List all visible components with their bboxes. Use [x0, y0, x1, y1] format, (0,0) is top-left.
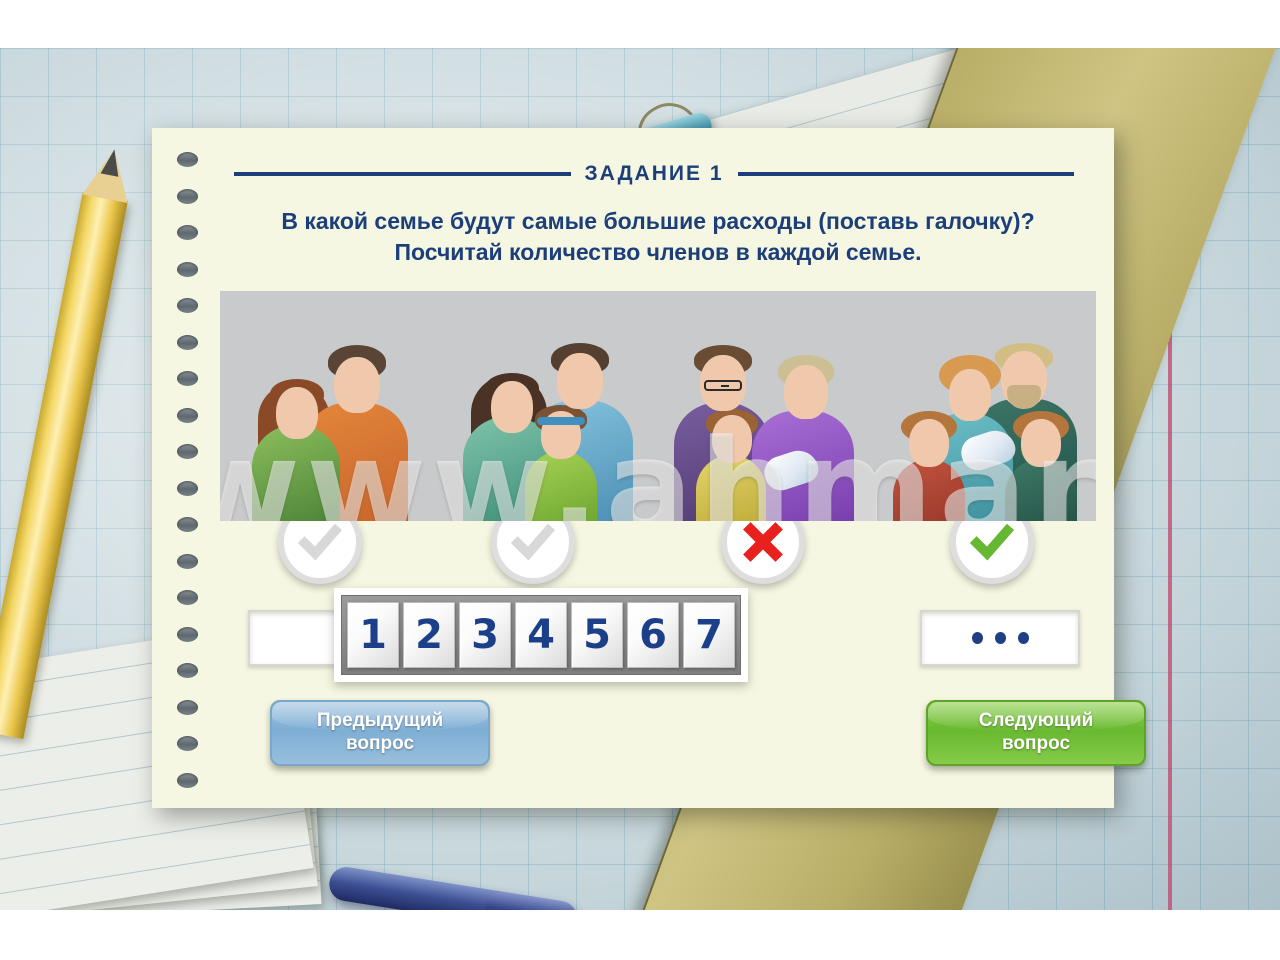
screen: ЗАДАНИЕ 1 В какой семье будут самые боль… — [0, 0, 1280, 960]
torso — [696, 455, 766, 521]
worksheet-content: ЗАДАНИЕ 1 В какой семье будут самые боль… — [208, 128, 1114, 808]
answer-field-right[interactable] — [920, 610, 1080, 666]
dot — [995, 632, 1006, 644]
dot — [972, 632, 983, 644]
number-key-2[interactable]: 2 — [403, 602, 455, 668]
punch-hole — [177, 481, 198, 496]
head — [949, 369, 991, 421]
families-row — [220, 291, 1096, 521]
punch-hole — [177, 700, 198, 715]
check-icon — [297, 519, 343, 565]
punch-hole — [177, 262, 198, 277]
family-1 — [230, 309, 430, 521]
punch-hole — [177, 444, 198, 459]
number-strip-frame: 1 2 3 4 5 6 7 — [341, 595, 741, 675]
glasses-icon — [704, 380, 742, 391]
cross-icon — [740, 519, 786, 565]
worksheet-card: ЗАДАНИЕ 1 В какой семье будут самые боль… — [152, 128, 1114, 808]
family-3 — [668, 309, 868, 521]
torso — [252, 425, 340, 521]
heading-rule-left — [234, 172, 571, 176]
head — [276, 387, 318, 439]
families-illustration: www.ahmarket.ru — [220, 291, 1096, 521]
punch-hole — [177, 517, 198, 532]
family-2 — [449, 309, 649, 521]
punch-hole — [177, 627, 198, 642]
number-key-1[interactable]: 1 — [347, 602, 399, 668]
number-key-5[interactable]: 5 — [571, 602, 623, 668]
punch-hole — [177, 335, 198, 350]
head — [712, 415, 752, 463]
punch-hole — [177, 152, 198, 167]
punch-hole — [177, 408, 198, 423]
head — [1021, 419, 1061, 467]
torso — [525, 451, 597, 521]
next-question-button[interactable]: Следующий вопрос — [926, 700, 1146, 766]
question-line-2: Посчитай количество членов в каждой семь… — [218, 237, 1098, 268]
number-key-6[interactable]: 6 — [627, 602, 679, 668]
next-question-line-1: Следующий — [979, 710, 1094, 731]
punch-hole — [177, 298, 198, 313]
heading-rule-right — [738, 172, 1075, 176]
punch-holes — [172, 152, 202, 788]
previous-question-button[interactable]: Предыдущий вопрос — [270, 700, 490, 766]
page-title: ЗАДАНИЕ 1 — [585, 162, 724, 186]
punch-hole — [177, 554, 198, 569]
head — [557, 353, 603, 409]
punch-hole — [177, 736, 198, 751]
next-question-label: Следующий вопрос — [979, 710, 1094, 756]
head — [334, 357, 380, 413]
torso — [893, 459, 965, 521]
check-icon — [510, 519, 556, 565]
punch-hole — [177, 590, 198, 605]
punch-hole — [177, 225, 198, 240]
previous-question-line-1: Предыдущий — [317, 710, 443, 731]
punch-hole — [177, 371, 198, 386]
head — [784, 365, 828, 419]
family-4 — [887, 309, 1087, 521]
number-key-3[interactable]: 3 — [459, 602, 511, 668]
head — [909, 419, 949, 467]
number-key-4[interactable]: 4 — [515, 602, 567, 668]
punch-hole — [177, 663, 198, 678]
previous-question-label: Предыдущий вопрос — [317, 710, 443, 756]
number-strip[interactable]: 1 2 3 4 5 6 7 — [334, 588, 748, 682]
next-question-line-2: вопрос — [1002, 733, 1070, 754]
number-key-7[interactable]: 7 — [683, 602, 735, 668]
dot — [1018, 632, 1029, 644]
punch-hole — [177, 189, 198, 204]
head — [491, 381, 533, 433]
question-line-1: В какой семье будут самые большие расход… — [218, 206, 1098, 237]
punch-hole — [177, 773, 198, 788]
check-icon — [969, 519, 1015, 565]
torso — [1005, 459, 1077, 521]
previous-question-line-2: вопрос — [346, 733, 414, 754]
headband — [537, 417, 585, 425]
question-text: В какой семье будут самые большие расход… — [218, 206, 1098, 268]
task-heading: ЗАДАНИЕ 1 — [234, 162, 1074, 186]
